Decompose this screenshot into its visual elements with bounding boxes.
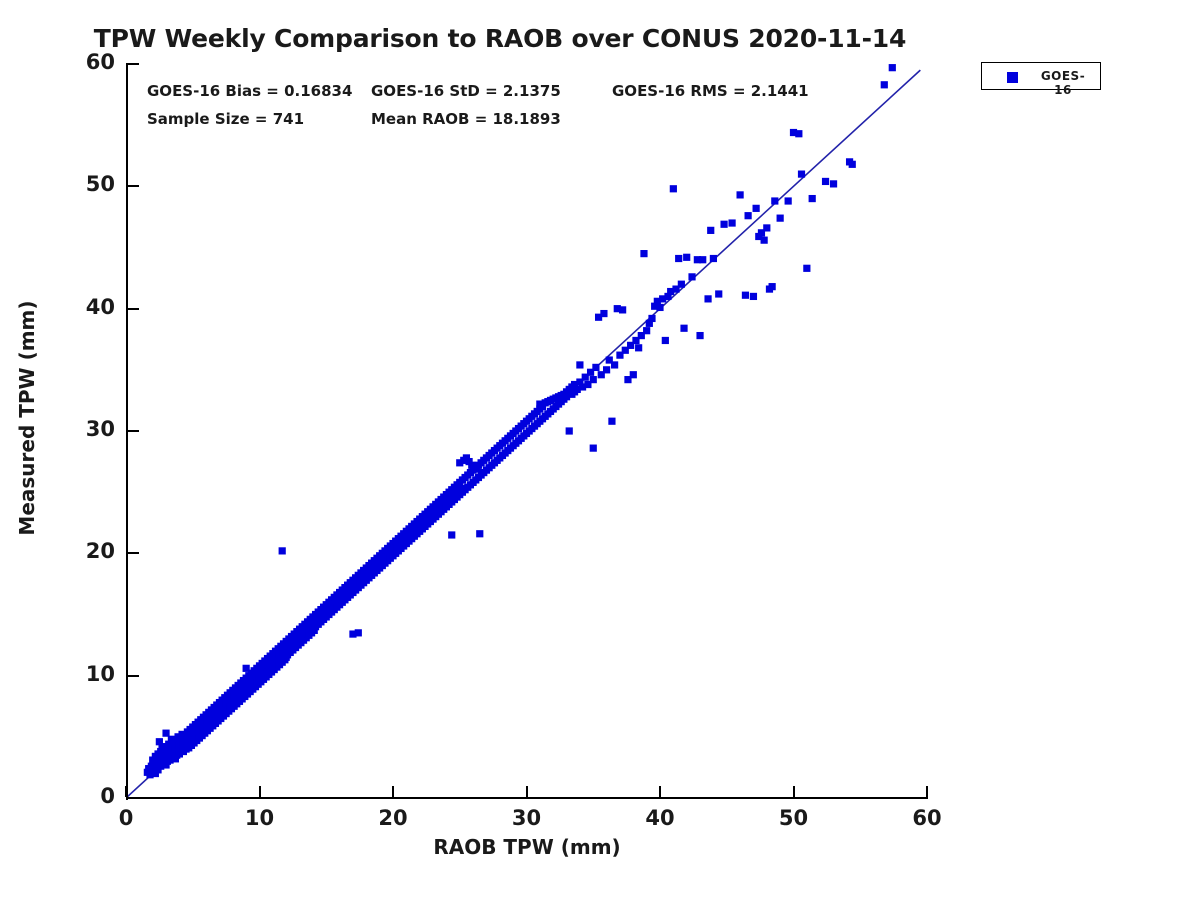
data-point [763,224,770,231]
data-point [566,427,573,434]
data-point [777,215,784,222]
data-point [590,445,597,452]
data-point [699,256,706,263]
x-tick-50 [793,786,795,797]
data-point [830,180,837,187]
x-axis-label: RAOB TPW (mm) [126,835,928,859]
data-point [592,364,599,371]
data-point [728,219,735,226]
data-point [822,178,829,185]
data-point [670,185,677,192]
plot-area [126,64,927,798]
data-point [771,197,778,204]
data-point [704,295,711,302]
data-point [619,306,626,313]
data-point [715,290,722,297]
y-tick-label-20: 20 [55,539,115,563]
y-tick-label-50: 50 [55,172,115,196]
y-tick-label-10: 10 [55,662,115,686]
y-tick-40 [128,308,139,310]
data-point [635,344,642,351]
scatter-canvas [126,64,927,798]
data-point [675,255,682,262]
data-point [809,195,816,202]
x-tick-label-20: 20 [363,806,423,830]
x-tick-40 [659,786,661,797]
data-point [761,237,768,244]
data-point [680,325,687,332]
x-tick-label-60: 60 [897,806,957,830]
data-point [849,161,856,168]
data-point [608,418,615,425]
x-tick-label-0: 0 [96,806,156,830]
data-point [881,81,888,88]
data-point [710,255,717,262]
data-point [803,265,810,272]
data-point [662,337,669,344]
data-point [279,547,286,554]
data-point [355,629,362,636]
data-point [688,273,695,280]
x-tick-0 [125,786,127,797]
x-tick-30 [526,786,528,797]
data-point [720,221,727,228]
data-point [611,361,618,368]
page-title: TPW Weekly Comparison to RAOB over CONUS… [0,24,1000,53]
data-point [630,371,637,378]
x-tick-label-40: 40 [630,806,690,830]
data-point [889,64,896,71]
x-tick-20 [392,786,394,797]
data-point [696,332,703,339]
x-tick-label-10: 10 [230,806,290,830]
legend-marker-square [1007,72,1018,83]
data-point [476,530,483,537]
y-tick-60 [128,63,139,65]
data-point [603,366,610,373]
y-tick-label-0: 0 [55,784,115,808]
data-point [590,376,597,383]
data-point [576,361,583,368]
y-tick-30 [128,430,139,432]
y-tick-50 [128,185,139,187]
y-axis-label: Measured TPW (mm) [15,268,39,568]
y-tick-label-30: 30 [55,417,115,441]
y-tick-20 [128,552,139,554]
y-tick-0 [128,797,139,799]
data-point [707,227,714,234]
data-point [798,171,805,178]
data-point [737,191,744,198]
x-axis-line [126,797,928,799]
x-tick-label-30: 30 [497,806,557,830]
data-point [753,205,760,212]
y-tick-10 [128,675,139,677]
data-point [785,197,792,204]
x-tick-10 [259,786,261,797]
x-tick-60 [926,786,928,797]
data-point [745,212,752,219]
data-point [640,250,647,257]
data-point [769,283,776,290]
y-tick-label-40: 40 [55,295,115,319]
data-point [742,292,749,299]
legend[interactable]: GOES-16 [981,62,1101,90]
data-point [795,130,802,137]
data-point [648,315,655,322]
y-tick-label-60: 60 [55,50,115,74]
data-point [683,254,690,261]
data-point [643,327,650,334]
scatter-plot-figure: TPW Weekly Comparison to RAOB over CONUS… [0,0,1200,900]
data-points-group [144,64,896,778]
data-point [750,293,757,300]
legend-label: GOES-16 [1032,69,1094,97]
data-point [678,281,685,288]
data-point [656,304,663,311]
x-tick-label-50: 50 [764,806,824,830]
data-point [448,531,455,538]
data-point [600,310,607,317]
